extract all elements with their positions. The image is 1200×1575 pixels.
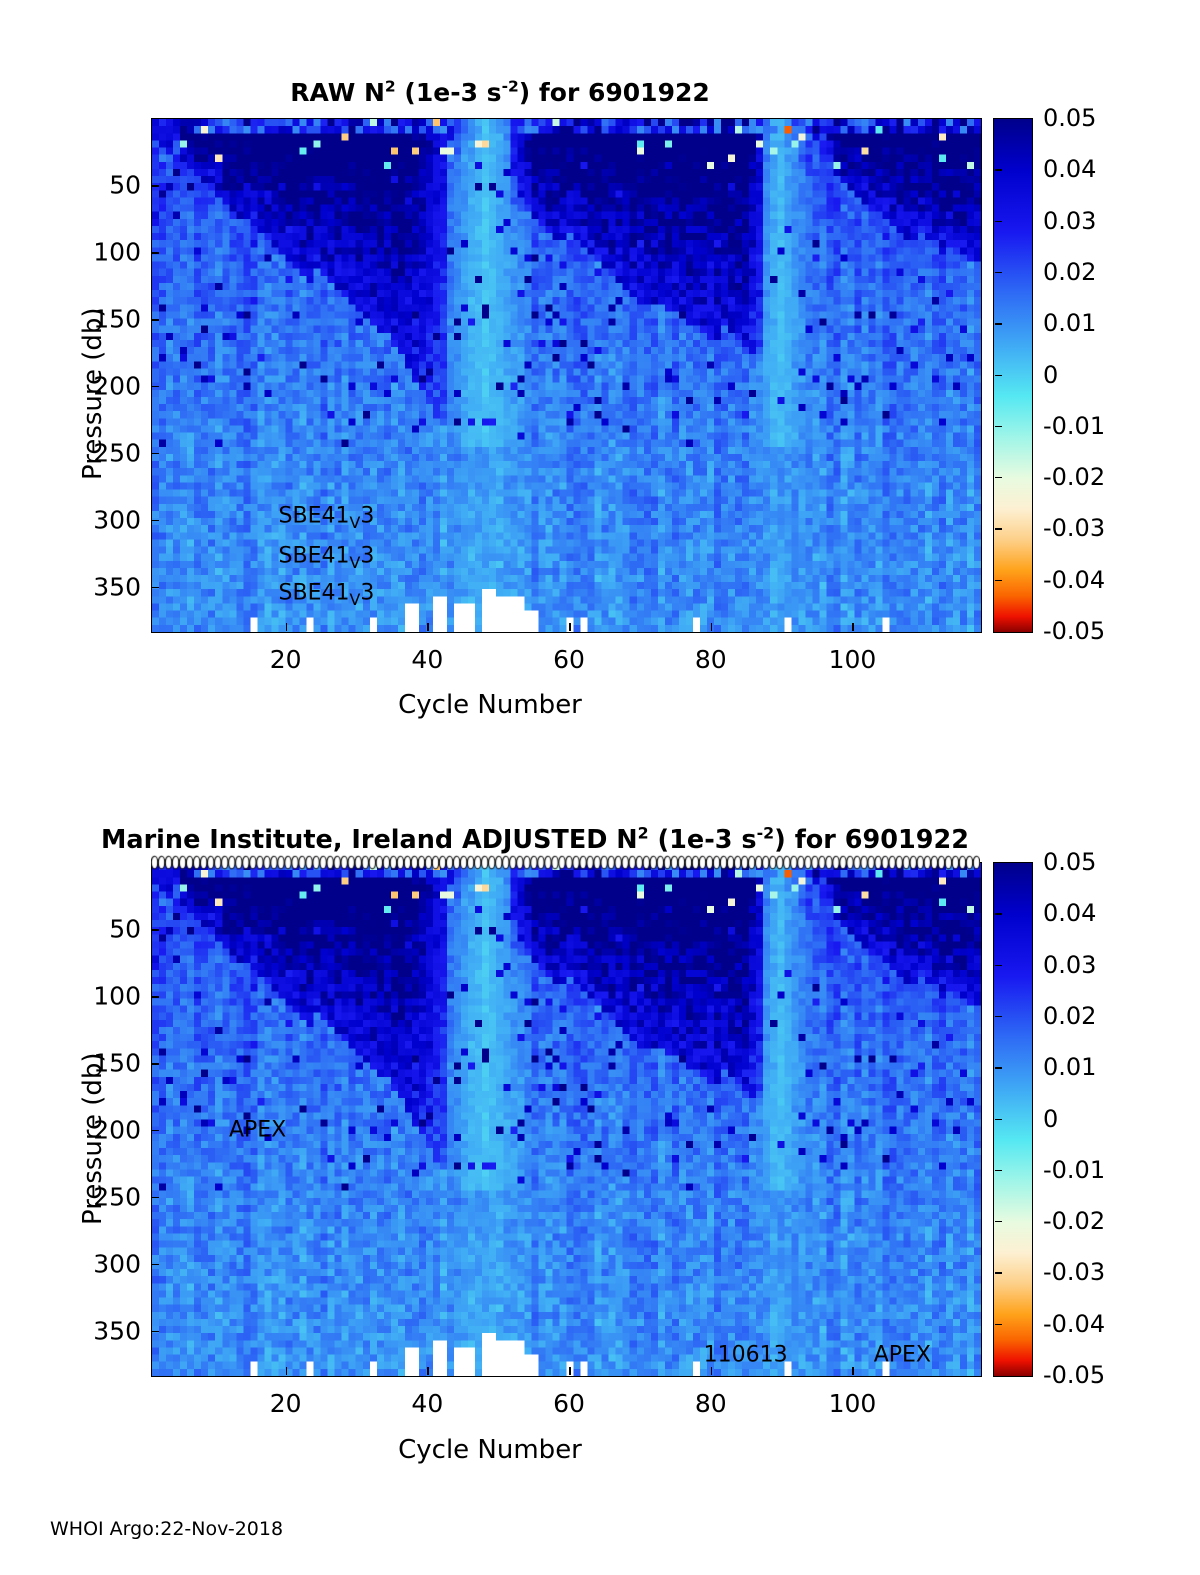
cycle-flag-marker-row — [151, 855, 980, 870]
panel-adjusted: Marine Institute, Ireland ADJUSTED N2 (1… — [0, 760, 1200, 1500]
colorbar-label-3: 0.02 — [1043, 258, 1096, 286]
y-tick-300 — [151, 520, 159, 522]
colorbar-tick-7 — [995, 1221, 1002, 1222]
x-tick-100 — [852, 1367, 854, 1375]
colorbar-label-6: -0.01 — [1043, 1156, 1105, 1184]
colorbar-label-1: 0.04 — [1043, 899, 1096, 927]
colorbar-label-8: -0.03 — [1043, 1258, 1105, 1286]
y-tick-50 — [151, 185, 159, 187]
x-tick-40 — [427, 1367, 429, 1375]
plot-annotation-adj-2: APEX — [874, 1342, 931, 1367]
x-tick-20 — [286, 1367, 288, 1375]
y-tick-label-50: 50 — [73, 170, 141, 199]
annotation-text: APEX — [874, 1342, 931, 1367]
colorbar-tick-3 — [995, 1016, 1002, 1017]
title-text-prefix: RAW N — [290, 78, 385, 107]
colorbar-label-0: 0.05 — [1043, 104, 1096, 132]
colorbar-label-7: -0.02 — [1043, 1207, 1105, 1235]
annotation-text: SBE41 — [279, 503, 350, 528]
colorbar-tick-8 — [995, 1272, 1002, 1273]
colorbar-tick-5 — [995, 1119, 1002, 1120]
y-tick-300 — [151, 1264, 159, 1266]
colorbar-label-2: 0.03 — [1043, 951, 1096, 979]
y-axis-title-raw: Pressure (db) — [78, 307, 108, 480]
colorbar-tick-2 — [995, 221, 1002, 222]
x-tick-60 — [569, 1367, 571, 1375]
colorbar-label-3: 0.02 — [1043, 1002, 1096, 1030]
y-tick-label-50: 50 — [73, 914, 141, 943]
colorbar-label-7: -0.02 — [1043, 463, 1105, 491]
colorbar-label-10: -0.05 — [1043, 1361, 1105, 1389]
colorbar-tick-4 — [995, 1067, 1002, 1068]
x-tick-60 — [569, 623, 571, 631]
x-axis-title-raw: Cycle Number — [0, 690, 980, 720]
colorbar-tick-7 — [995, 477, 1002, 478]
plot-annotation-raw-0: SBE41V3 — [279, 503, 375, 528]
y-tick-label-100: 100 — [73, 981, 141, 1010]
colorbar-label-0: 0.05 — [1043, 848, 1096, 876]
plot-annotation-raw-2: SBE41V3 — [279, 581, 375, 606]
y-tick-label-350: 350 — [73, 572, 141, 601]
x-tick-label-20: 20 — [270, 1389, 302, 1418]
colorbar-tick-1 — [995, 913, 1002, 914]
plot-annotation-adj-1: 110613 — [704, 1342, 788, 1367]
y-tick-label-100: 100 — [73, 237, 141, 266]
y-tick-350 — [151, 1331, 159, 1333]
x-axis-title-adjusted: Cycle Number — [0, 1435, 980, 1465]
x-tick-label-60: 60 — [553, 1389, 585, 1418]
annotation-text: 110613 — [704, 1342, 788, 1367]
x-tick-40 — [427, 623, 429, 631]
x-tick-label-80: 80 — [695, 645, 727, 674]
colorbar-label-9: -0.04 — [1043, 566, 1105, 594]
y-tick-200 — [151, 386, 159, 388]
annotation-subscript: V — [349, 553, 360, 572]
y-tick-label-300: 300 — [73, 1249, 141, 1278]
heatmap-axes-raw[interactable] — [151, 118, 982, 633]
y-tick-label-300: 300 — [73, 505, 141, 534]
annotation-tail: 3 — [360, 503, 374, 528]
colorbar-tick-9 — [995, 580, 1002, 581]
y-tick-200 — [151, 1130, 159, 1132]
y-tick-100 — [151, 996, 159, 998]
x-tick-label-100: 100 — [829, 1389, 877, 1418]
colorbar-label-9: -0.04 — [1043, 1310, 1105, 1338]
title-sup-exponent: 2 — [638, 824, 649, 843]
x-tick-label-20: 20 — [270, 645, 302, 674]
colorbar-label-2: 0.03 — [1043, 207, 1096, 235]
colorbar-label-5: 0 — [1043, 361, 1058, 389]
y-tick-350 — [151, 587, 159, 589]
title-sup-exponent: 2 — [385, 78, 396, 96]
colorbar-tick-6 — [995, 1170, 1002, 1171]
colorbar-label-4: 0.01 — [1043, 309, 1096, 337]
y-tick-label-350: 350 — [73, 1316, 141, 1345]
colorbar-label-6: -0.01 — [1043, 412, 1105, 440]
x-tick-label-100: 100 — [829, 645, 877, 674]
x-tick-20 — [286, 623, 288, 631]
colorbar-tick-4 — [995, 323, 1002, 324]
x-tick-label-60: 60 — [553, 645, 585, 674]
footer-credit: WHOI Argo:22-Nov-2018 — [50, 1518, 283, 1540]
colorbar-tick-3 — [995, 272, 1002, 273]
colorbar-label-1: 0.04 — [1043, 155, 1096, 183]
title-text-mid: (1e-3 s — [649, 825, 757, 855]
panel-adjusted-title: Marine Institute, Ireland ADJUSTED N2 (1… — [0, 825, 1070, 855]
plot-annotation-raw-1: SBE41V3 — [279, 543, 375, 568]
colorbar-label-4: 0.01 — [1043, 1053, 1096, 1081]
annotation-tail: 3 — [360, 581, 374, 606]
colorbar-tick-2 — [995, 965, 1002, 966]
colorbar-tick-5 — [995, 375, 1002, 376]
colorbar-tick-6 — [995, 426, 1002, 427]
x-tick-label-40: 40 — [411, 645, 443, 674]
y-tick-150 — [151, 319, 159, 321]
y-tick-100 — [151, 252, 159, 254]
plot-annotation-adj-0: APEX — [229, 1117, 286, 1142]
x-tick-label-40: 40 — [411, 1389, 443, 1418]
heatmap-image-raw — [152, 119, 981, 632]
title-text-suffix: ) for 6901922 — [519, 78, 710, 107]
colorbar-tick-8 — [995, 528, 1002, 529]
annotation-text: SBE41 — [279, 543, 350, 568]
y-axis-title-adjusted: Pressure (db) — [78, 1052, 108, 1225]
annotation-text: APEX — [229, 1117, 286, 1142]
y-tick-50 — [151, 929, 159, 931]
colorbar-tick-9 — [995, 1324, 1002, 1325]
title-text-prefix: Marine Institute, Ireland ADJUSTED N — [101, 825, 638, 855]
y-tick-250 — [151, 453, 159, 455]
annotation-subscript: V — [349, 590, 360, 609]
annotation-text: SBE41 — [279, 581, 350, 606]
colorbar-label-10: -0.05 — [1043, 617, 1105, 645]
panel-raw-title: RAW N2 (1e-3 s-2) for 6901922 — [0, 78, 1000, 107]
y-tick-250 — [151, 1197, 159, 1199]
annotation-tail: 3 — [360, 543, 374, 568]
colorbar-label-5: 0 — [1043, 1105, 1058, 1133]
panel-raw: RAW N2 (1e-3 s-2) for 6901922 2040608010… — [0, 0, 1200, 760]
colorbar-tick-1 — [995, 169, 1002, 170]
x-tick-100 — [852, 623, 854, 631]
title-sup-exponent2: -2 — [502, 78, 519, 96]
y-tick-150 — [151, 1063, 159, 1065]
x-tick-80 — [711, 1367, 713, 1375]
colorbar-label-8: -0.03 — [1043, 514, 1105, 542]
x-tick-80 — [711, 623, 713, 631]
title-sup-exponent2: -2 — [757, 824, 775, 843]
title-text-mid: (1e-3 s — [396, 78, 502, 107]
x-tick-label-80: 80 — [695, 1389, 727, 1418]
annotation-subscript: V — [349, 513, 360, 532]
title-text-suffix: ) for 6901922 — [774, 825, 969, 855]
